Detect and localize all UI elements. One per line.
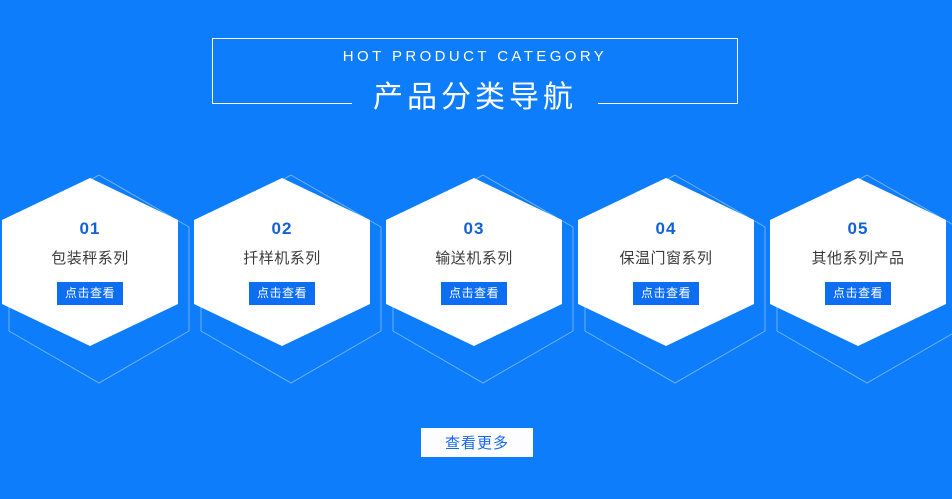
category-view-button[interactable]: 点击查看	[825, 282, 891, 305]
page-title: 产品分类导航	[212, 83, 738, 113]
category-card-05[interactable]: 05其他系列产品点击查看	[770, 170, 952, 380]
category-number: 01	[80, 220, 101, 237]
category-number: 05	[848, 220, 869, 237]
category-number: 04	[656, 220, 677, 237]
category-label: 包装秤系列	[51, 251, 129, 266]
category-label: 输送机系列	[435, 251, 513, 266]
view-more-button[interactable]: 查看更多	[421, 428, 533, 457]
category-view-button[interactable]: 点击查看	[441, 282, 507, 305]
category-label: 其他系列产品	[811, 251, 904, 266]
category-card-content: 03输送机系列点击查看	[386, 178, 562, 346]
category-card-02[interactable]: 02扦样机系列点击查看	[194, 170, 376, 380]
category-card-01[interactable]: 01包装秤系列点击查看	[2, 170, 184, 380]
category-card-04[interactable]: 04保温门窗系列点击查看	[578, 170, 760, 380]
category-view-button[interactable]: 点击查看	[57, 282, 123, 305]
category-card-content: 04保温门窗系列点击查看	[578, 178, 754, 346]
section-eyebrow-text: HOT PRODUCT CATEGORY	[212, 48, 738, 65]
category-card-content: 05其他系列产品点击查看	[770, 178, 946, 346]
category-card-03[interactable]: 03输送机系列点击查看	[386, 170, 568, 380]
category-card-content: 01包装秤系列点击查看	[2, 178, 178, 346]
category-label: 保温门窗系列	[619, 251, 712, 266]
category-card-content: 02扦样机系列点击查看	[194, 178, 370, 346]
section-header: HOT PRODUCT CATEGORY 产品分类导航	[212, 38, 738, 104]
category-view-button[interactable]: 点击查看	[633, 282, 699, 305]
category-number: 02	[272, 220, 293, 237]
category-card-row: 01包装秤系列点击查看02扦样机系列点击查看03输送机系列点击查看04保温门窗系…	[0, 170, 952, 380]
category-label: 扦样机系列	[243, 251, 321, 266]
category-number: 03	[464, 220, 485, 237]
category-view-button[interactable]: 点击查看	[249, 282, 315, 305]
